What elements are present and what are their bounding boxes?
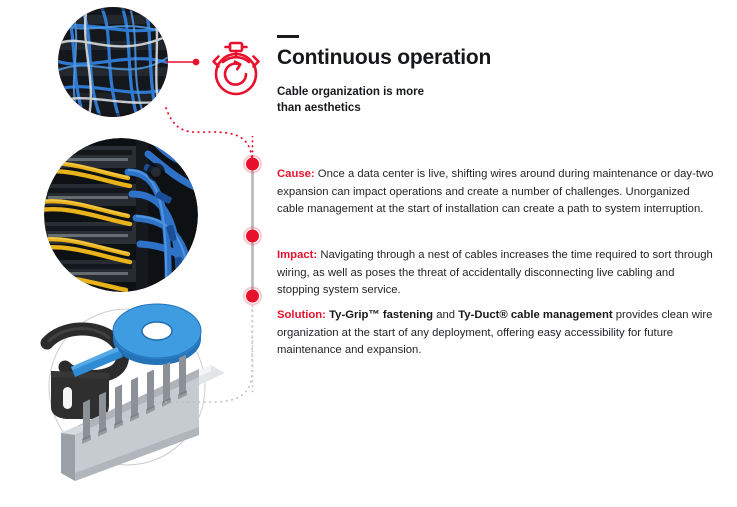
infographic-canvas: Continuous operation Cable organization … [0,0,737,507]
connector-line-dot [193,59,200,66]
item-solution-text: Ty-Grip™ fastening and Ty-Duct® cable ma… [277,309,712,356]
photo-cables-tangled [58,7,168,117]
item-solution-lead: Solution: [277,309,326,321]
item-cause-text: Once a data center is live, shifting wir… [277,168,713,215]
stopwatch-icon [205,38,267,100]
item-impact-text: Navigating through a nest of cables incr… [277,249,713,296]
page-title: Continuous operation [277,46,717,70]
photo-rack-organized [44,138,198,292]
item-cause: Cause: Once a data center is live, shift… [277,166,717,219]
item-cause-lead: Cause: [277,168,315,180]
item-solution: Solution: Ty-Grip™ fastening and Ty-Duct… [277,307,717,360]
timeline-dot [244,288,261,305]
timeline-dot [244,228,261,245]
timeline [240,136,266,396]
item-impact: Impact: Navigating through a nest of cab… [277,247,717,300]
photo-products [35,295,230,490]
item-impact-lead: Impact: [277,249,317,261]
page-subtitle: Cable organization is more than aestheti… [277,84,507,116]
title-rule [277,35,299,38]
timeline-dot [244,156,261,173]
